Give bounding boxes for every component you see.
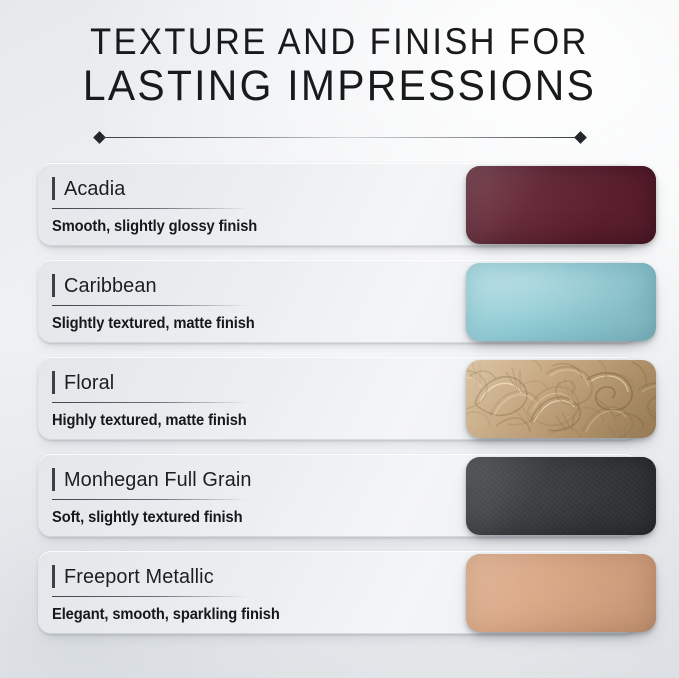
swatch-name-row: Monhegan Full Grain (52, 467, 432, 494)
swatch-name-underline (52, 402, 248, 403)
color-swatch[interactable] (466, 360, 656, 438)
color-swatch[interactable] (466, 457, 656, 535)
swatch-name-underline (52, 305, 248, 306)
swatch-name-row: Freeport Metallic (52, 564, 432, 591)
swatch-row[interactable]: Monhegan Full GrainSoft, slightly textur… (0, 454, 679, 537)
swatch-name-row: Acadia (52, 176, 432, 203)
swatch-description: Elegant, smooth, sparkling finish (52, 606, 417, 624)
swatch-description: Soft, slightly textured finish (52, 509, 417, 527)
swatch-sheen (466, 263, 656, 341)
swatch-row[interactable]: FloralHighly textured, matte finish (0, 357, 679, 440)
divider-rule (103, 137, 577, 138)
divider (95, 133, 585, 142)
swatch-name-underline (52, 208, 248, 209)
header: TEXTURE AND FINISH FOR LASTING IMPRESSIO… (0, 22, 679, 110)
swatch-name-row: Floral (52, 370, 432, 397)
swatch-sheen (466, 166, 656, 244)
swatch-name: Freeport Metallic (64, 564, 214, 589)
swatch-name-row: Caribbean (52, 273, 432, 300)
swatch-name: Floral (64, 370, 114, 395)
accent-bar-icon (52, 565, 55, 588)
swatch-sheen (466, 457, 656, 535)
swatch-list: AcadiaSmooth, slightly glossy finishCari… (0, 163, 679, 648)
page-title-line-1: TEXTURE AND FINISH FOR (24, 22, 655, 61)
accent-bar-icon (52, 468, 55, 491)
accent-bar-icon (52, 371, 55, 394)
swatch-name: Caribbean (64, 273, 157, 298)
accent-bar-icon (52, 177, 55, 200)
swatch-row[interactable]: AcadiaSmooth, slightly glossy finish (0, 163, 679, 246)
swatch-info: CaribbeanSlightly textured, matte finish (52, 273, 432, 333)
swatch-row[interactable]: Freeport MetallicElegant, smooth, sparkl… (0, 551, 679, 634)
swatch-description: Highly textured, matte finish (52, 412, 417, 430)
color-swatch[interactable] (466, 554, 656, 632)
color-swatch[interactable] (466, 166, 656, 244)
swatch-description: Slightly textured, matte finish (52, 315, 417, 333)
swatch-info: Freeport MetallicElegant, smooth, sparkl… (52, 564, 432, 624)
swatch-sheen (466, 554, 656, 632)
accent-bar-icon (52, 274, 55, 297)
swatch-name: Acadia (64, 176, 125, 201)
swatch-info: AcadiaSmooth, slightly glossy finish (52, 176, 432, 236)
page-title-line-2: LASTING IMPRESSIONS (17, 64, 662, 110)
color-swatch[interactable] (466, 263, 656, 341)
swatch-info: FloralHighly textured, matte finish (52, 370, 432, 430)
swatch-row[interactable]: CaribbeanSlightly textured, matte finish (0, 260, 679, 343)
swatch-name-underline (52, 499, 248, 500)
swatch-description: Smooth, slightly glossy finish (52, 218, 417, 236)
swatch-name: Monhegan Full Grain (64, 467, 252, 492)
swatch-info: Monhegan Full GrainSoft, slightly textur… (52, 467, 432, 527)
swatch-name-underline (52, 596, 248, 597)
diamond-ornament-right-icon (574, 131, 587, 144)
texture-finish-infographic: TEXTURE AND FINISH FOR LASTING IMPRESSIO… (0, 0, 679, 678)
swatch-sheen (466, 360, 656, 438)
